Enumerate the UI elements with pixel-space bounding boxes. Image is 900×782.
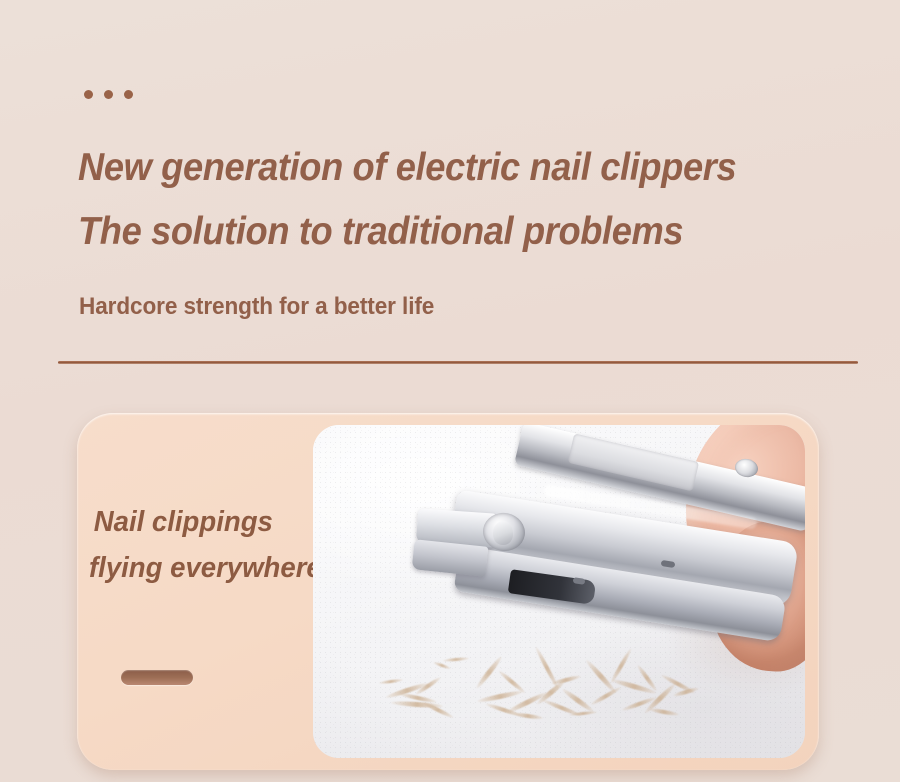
clipper-pivot-pin — [493, 521, 513, 545]
nail-clipping — [551, 674, 581, 685]
clipper-jaw-lower — [412, 539, 489, 577]
nail-clipping — [379, 678, 403, 684]
nail-clipping — [590, 686, 621, 706]
nail-clipping — [649, 707, 679, 716]
nail-clippings-group — [373, 650, 703, 740]
nail-clipping — [513, 712, 543, 720]
card-caption-line-1: Nail clippings — [89, 499, 317, 545]
headline-line-2: The solution to traditional problems — [78, 212, 683, 251]
subheadline: Hardcore strength for a better life — [79, 295, 434, 319]
nail-clipping — [443, 657, 469, 662]
product-photo — [313, 425, 805, 758]
card-accent-pill — [121, 670, 193, 685]
headline-line-1: New generation of electric nail clippers — [78, 148, 736, 187]
nail-clipping — [433, 661, 451, 670]
nail-clipping — [477, 689, 523, 703]
nail-clipper — [423, 427, 805, 657]
card-caption-line-2: flying everywhere. — [89, 545, 317, 591]
product-card: Nail clippings flying everywhere. — [77, 413, 819, 770]
dot-1-icon — [84, 90, 93, 99]
dot-3-icon — [124, 90, 133, 99]
decorative-dots — [84, 90, 133, 99]
header-divider — [58, 361, 858, 364]
dot-2-icon — [104, 90, 113, 99]
promo-page: New generation of electric nail clippers… — [0, 0, 900, 782]
card-caption: Nail clippings flying everywhere. — [89, 499, 317, 592]
